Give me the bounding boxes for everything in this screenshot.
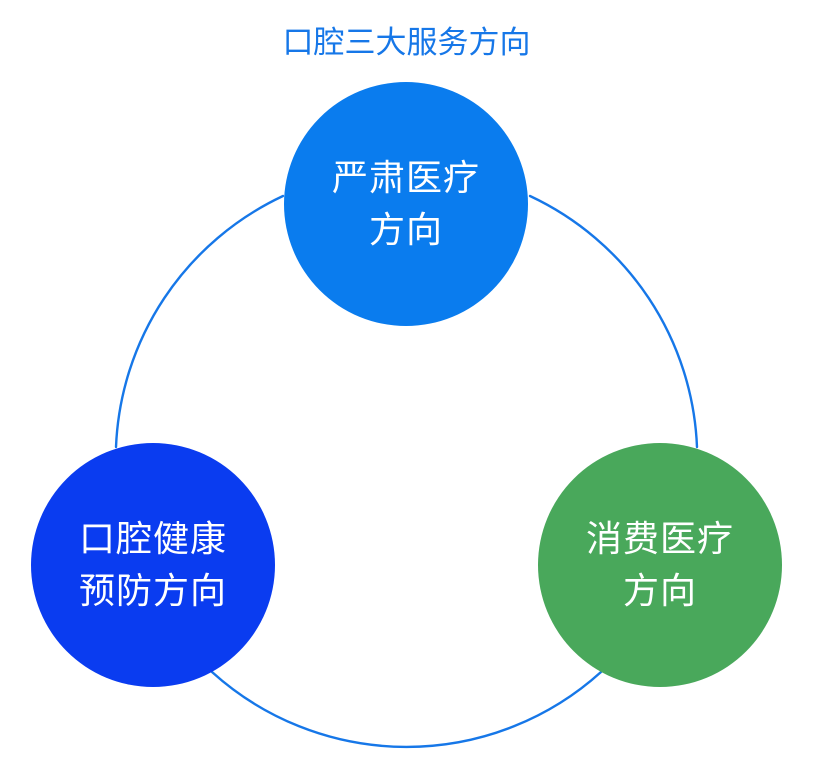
arc-right-to-top (530, 196, 697, 447)
arc-left-to-right (212, 672, 601, 747)
node-oral-health-prevention[interactable]: 口腔健康 预防方向 (31, 443, 275, 687)
node-label-serious-medical: 严肃医疗 方向 (332, 152, 480, 256)
node-label-consumer-medical: 消费医疗 方向 (586, 513, 734, 617)
node-serious-medical[interactable]: 严肃医疗 方向 (284, 82, 528, 326)
diagram-canvas: 口腔三大服务方向 严肃医疗 方向 口腔健康 预防方向 消费医疗 方向 (0, 0, 813, 762)
node-label-oral-health-prevention: 口腔健康 预防方向 (79, 513, 227, 617)
node-consumer-medical[interactable]: 消费医疗 方向 (538, 443, 782, 687)
arc-top-to-left (116, 196, 283, 447)
